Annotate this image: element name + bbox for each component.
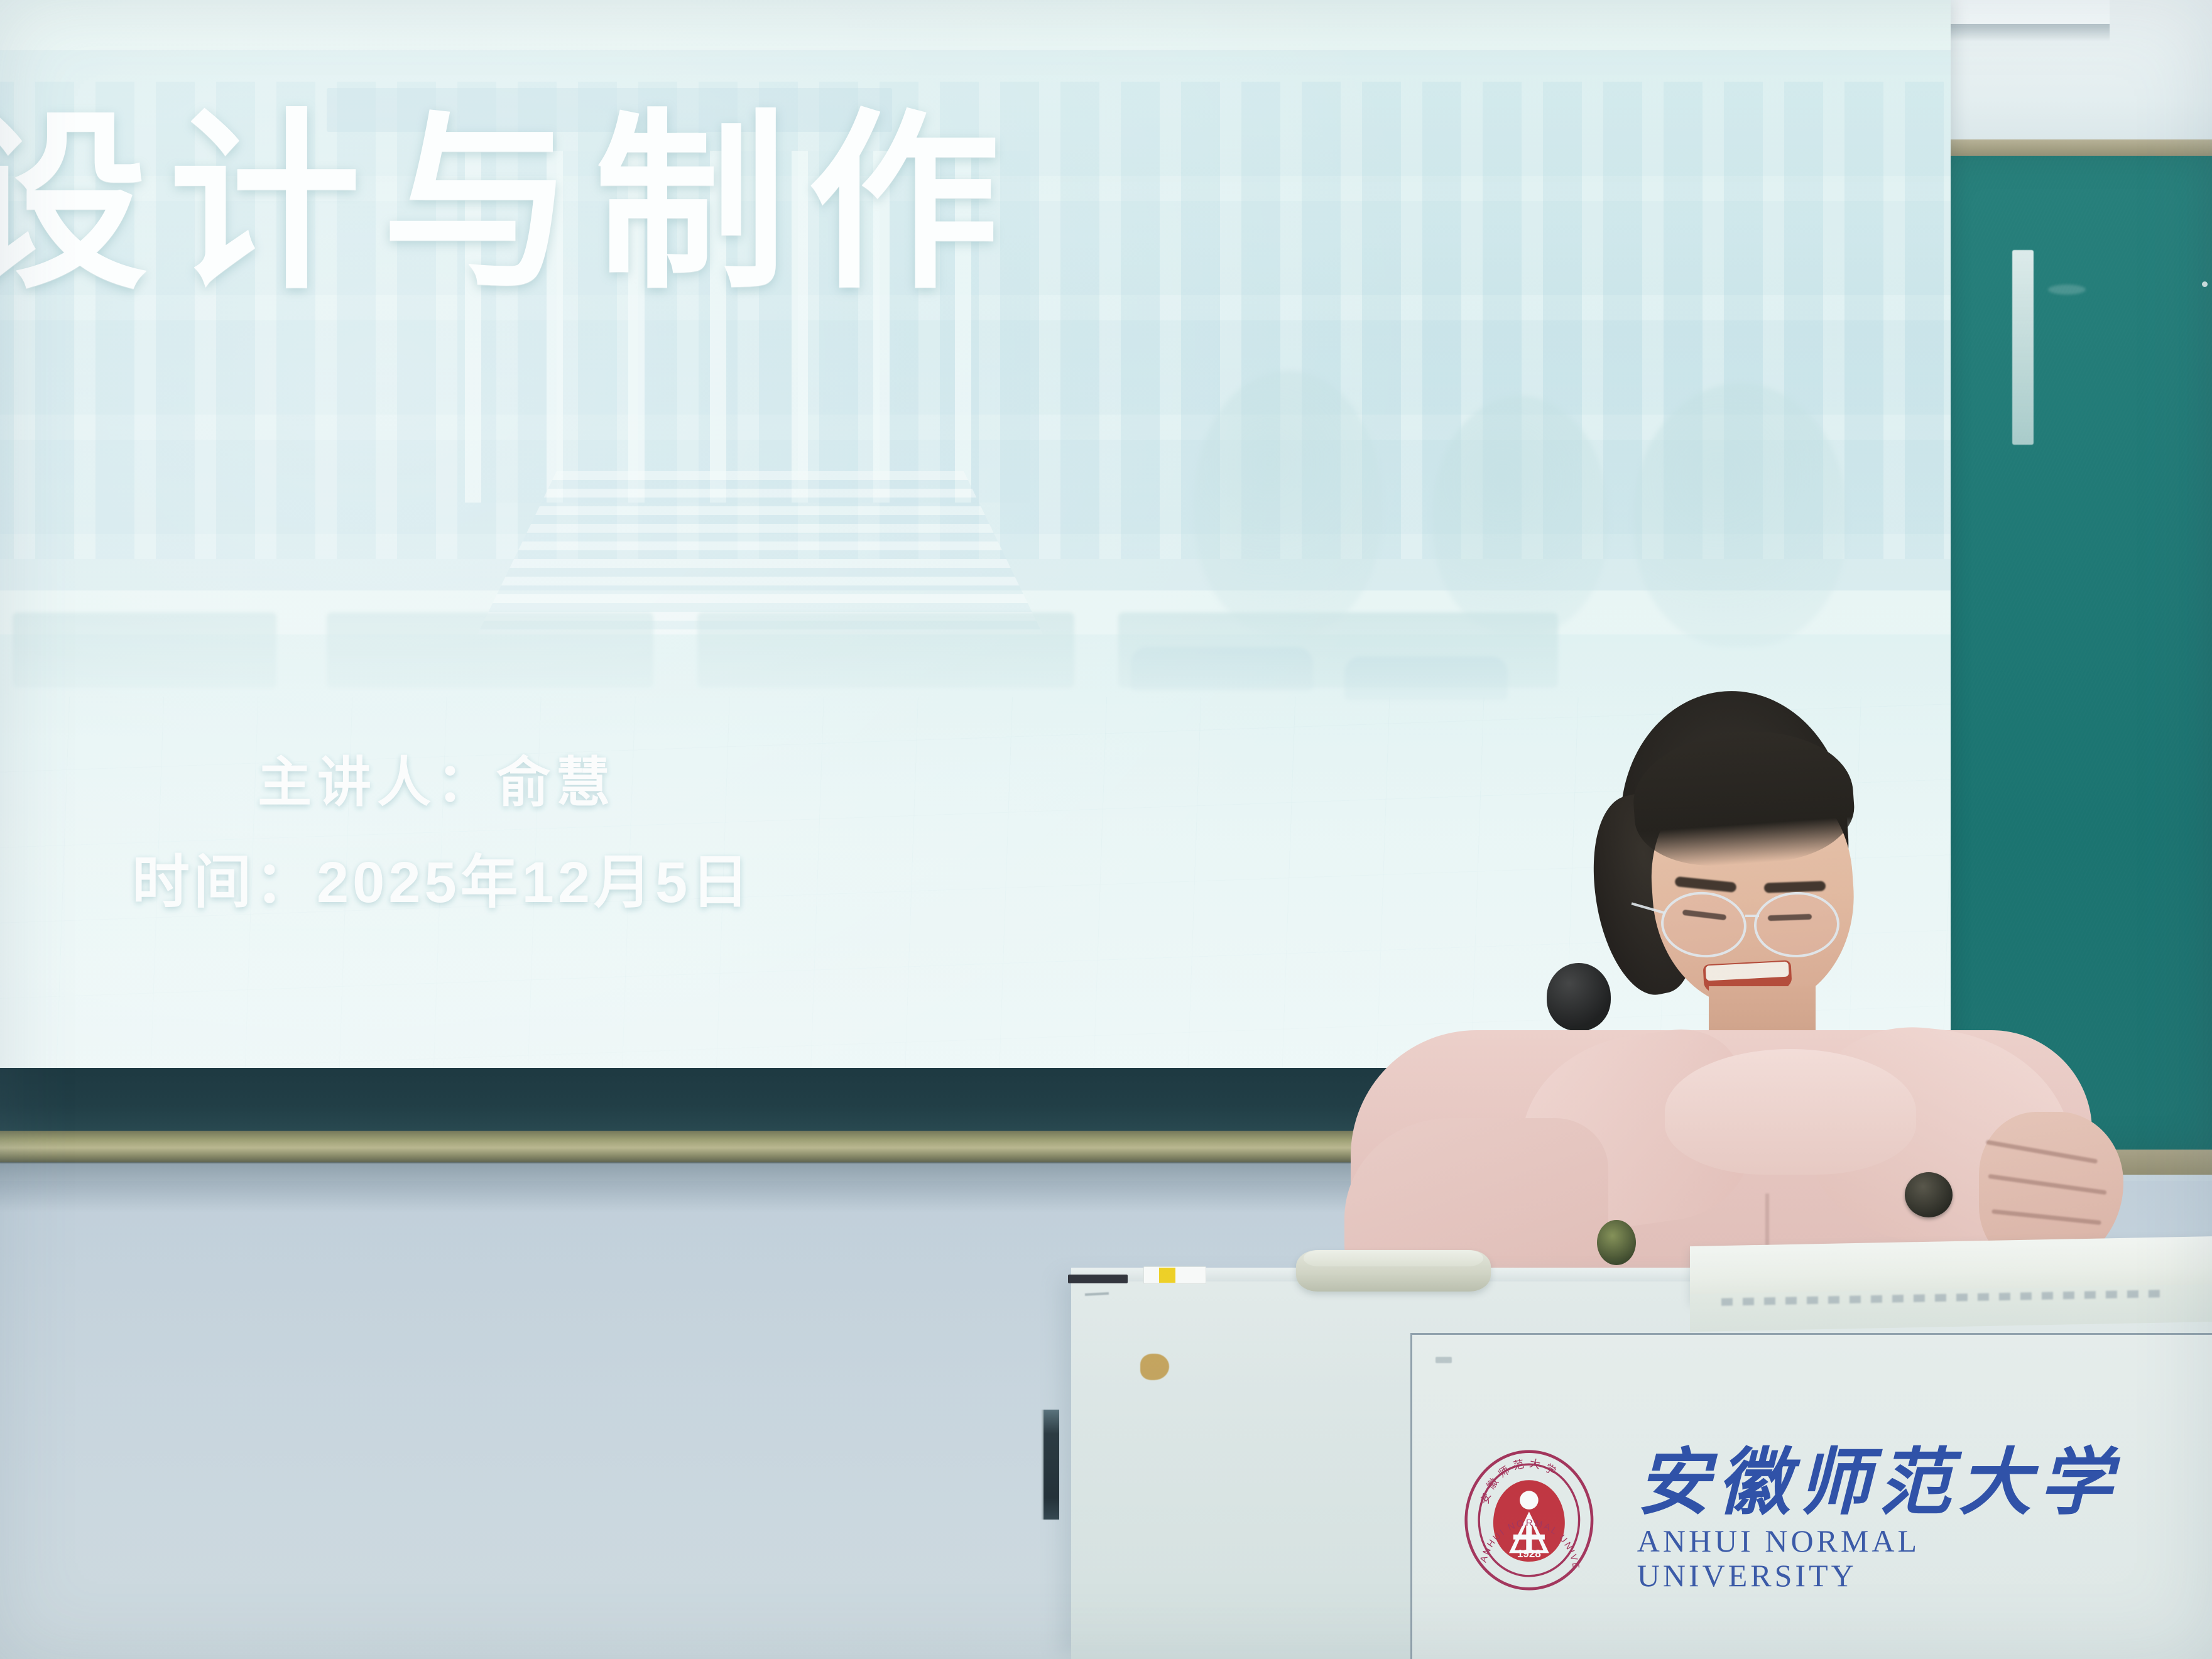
finger-crease: [1986, 1140, 2098, 1163]
speaker: [1558, 678, 2111, 1281]
chalk-smudge: [2048, 285, 2086, 295]
speaker-teeth: [1706, 962, 1789, 981]
podium-panel-mark: [1436, 1357, 1452, 1363]
finger-crease: [1988, 1174, 2106, 1195]
glasses-icon: [1659, 886, 1866, 961]
university-branding: 1928 ANHUI NORMAL UNIVERSITY 安徽师范大学 安徽师范…: [1457, 1445, 2123, 1596]
podium-label-sticker-yellow: [1159, 1268, 1175, 1283]
speaker-ring: [1597, 1220, 1636, 1265]
university-seal-icon: 1928 ANHUI NORMAL UNIVERSITY 安徽师范大学: [1457, 1445, 1601, 1596]
university-name-en: ANHUI NORMAL UNIVERSITY: [1637, 1524, 2123, 1593]
glasses-lens: [1753, 891, 1841, 959]
glasses-bridge: [1745, 915, 1759, 917]
classroom-photo-stage: 设计与制作 主讲人：俞慧 时间：2025年12月5日: [0, 0, 2212, 1659]
chalk-dot: [2202, 281, 2208, 287]
glasses-lens: [1659, 888, 1750, 960]
chalkboard-eraser-top: [1304, 1250, 1483, 1266]
svg-text:1928: 1928: [1517, 1548, 1541, 1560]
finger-crease: [1991, 1209, 2101, 1225]
slide-title: 设计与制作: [0, 104, 1021, 303]
slide-date-line: 时间：2025年12月5日: [132, 835, 753, 919]
university-name-cn: 安徽师范大学: [1637, 1447, 2123, 1520]
speaker-coat-button: [1905, 1172, 1953, 1217]
chalkboard-tape-strip: [2012, 250, 2034, 445]
slide-presenter-line: 主讲人：俞慧: [258, 738, 616, 817]
speaker-coat-collar: [1665, 1049, 1916, 1175]
screen-frame-shadow: [1934, 24, 2110, 41]
chalkboard-top-rail: [1938, 139, 2212, 157]
podium-side-slot: [1042, 1410, 1059, 1520]
podium-dark-object: [1068, 1275, 1128, 1283]
screen-frame-top-cap: [1934, 0, 2110, 26]
